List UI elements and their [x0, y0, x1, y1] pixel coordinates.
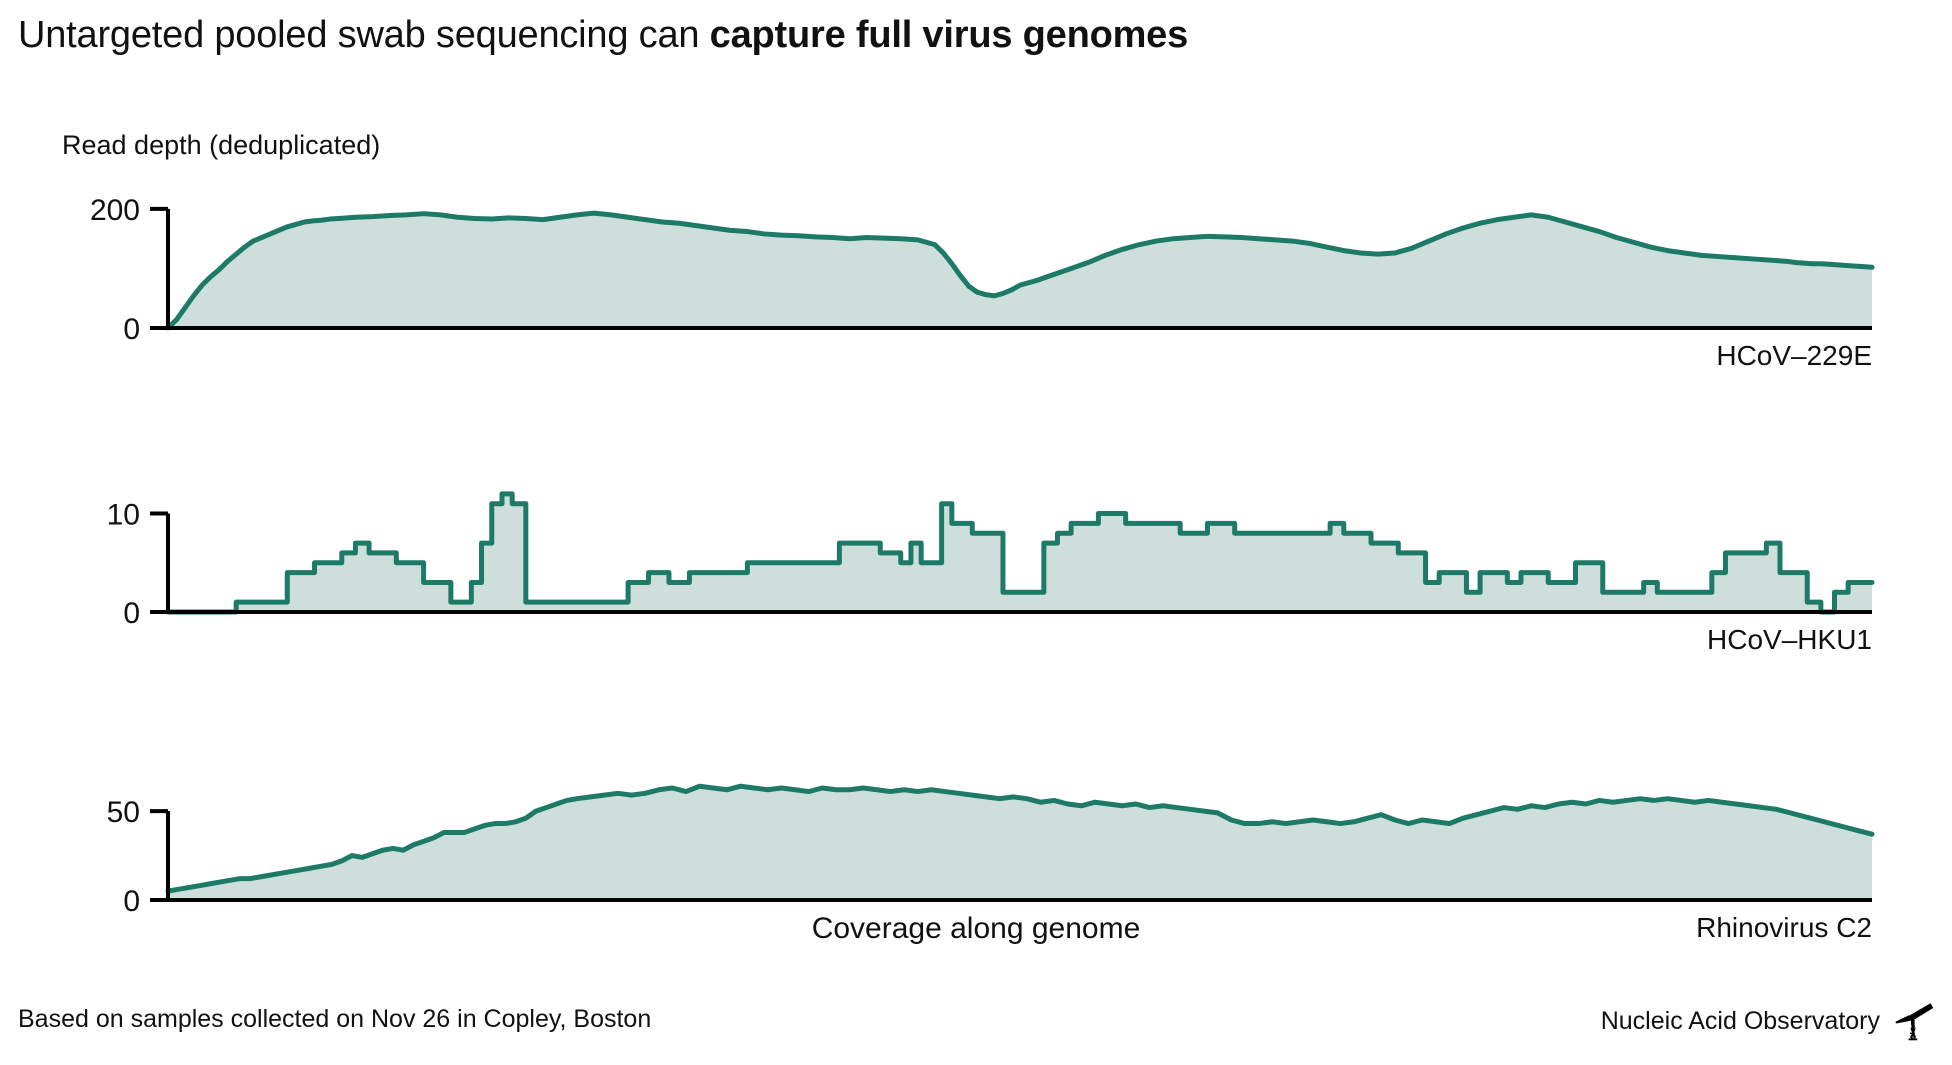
y-tick-label-0-200: 200	[90, 194, 140, 227]
y-tick-label-1-10: 10	[107, 499, 140, 532]
y-tick-label-0-0: 0	[123, 313, 140, 346]
chart-canvas: 0200010050	[0, 0, 1952, 1065]
footer: Based on samples collected on Nov 26 in …	[18, 1001, 1934, 1043]
chart-panel-0: 0200	[90, 194, 1872, 346]
footer-source-note: Based on samples collected on Nov 26 in …	[18, 1005, 651, 1034]
series-label-hcov-229e: HCoV–229E	[1252, 340, 1872, 372]
footer-brand: Nucleic Acid Observatory	[1601, 1001, 1934, 1041]
chart-panel-1: 010	[107, 494, 1872, 630]
area-fill-0	[168, 213, 1872, 328]
y-tick-label-2-50: 50	[107, 796, 140, 829]
chart-panel-2: 050	[107, 786, 1872, 918]
series-label-rhinovirus-c2: Rhinovirus C2	[1252, 912, 1872, 944]
footer-brand-label: Nucleic Acid Observatory	[1601, 1007, 1880, 1036]
figure-root: Untargeted pooled swab sequencing can ca…	[0, 0, 1952, 1065]
y-tick-label-1-0: 0	[123, 597, 140, 630]
telescope-dna-logo-icon	[1890, 1001, 1934, 1041]
series-label-hcov-hku1: HCoV–HKU1	[1252, 624, 1872, 656]
